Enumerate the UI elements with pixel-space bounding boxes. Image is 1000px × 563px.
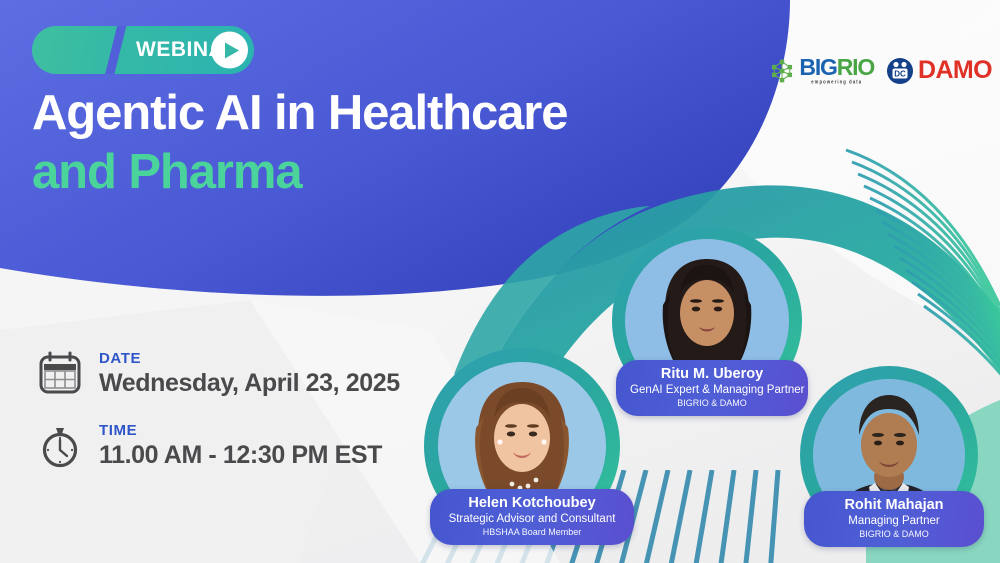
calendar-icon	[36, 350, 84, 398]
bigrio-wordmark: BIGRIO	[799, 57, 874, 78]
stopwatch-icon	[36, 422, 84, 470]
speaker-role: Managing Partner	[818, 514, 970, 528]
damo-wordmark: DAMO	[918, 56, 992, 85]
time-row: TIME 11.00 AM - 12:30 PM EST	[36, 422, 400, 470]
speaker-org: HBSHAA Board Member	[444, 527, 620, 539]
bigrio-word-part2: RIO	[837, 54, 874, 80]
webinar-poster: WEBINAR Agentic AI in Healthcare and Pha…	[0, 0, 1000, 563]
speaker-card-ritu: Ritu M. Uberoy GenAI Expert & Managing P…	[612, 226, 812, 416]
speaker-org: BIGRIO & DAMO	[630, 398, 794, 410]
speaker-name: Ritu M. Uberoy	[630, 366, 794, 383]
title-line-2: and Pharma	[32, 147, 732, 199]
title-line-1: Agentic AI in Healthcare	[32, 88, 732, 140]
speaker-name-plate: Ritu M. Uberoy GenAI Expert & Managing P…	[616, 360, 808, 416]
page-title: Agentic AI in Healthcare and Pharma	[32, 88, 732, 199]
time-value: 11.00 AM - 12:30 PM EST	[99, 442, 382, 470]
molecule-network-icon	[769, 58, 795, 84]
dc-monogram-icon: DC	[887, 58, 913, 84]
time-label: TIME	[99, 423, 382, 440]
date-row: DATE Wednesday, April 23, 2025	[36, 350, 400, 398]
speaker-card-helen: Helen Kotchoubey Strategic Advisor and C…	[424, 348, 634, 548]
speaker-name: Helen Kotchoubey	[444, 495, 620, 512]
speaker-name-plate: Helen Kotchoubey Strategic Advisor and C…	[430, 489, 634, 545]
speaker-org: BIGRIO & DAMO	[818, 529, 970, 541]
svg-text:DC: DC	[894, 69, 906, 78]
badge-slash	[104, 26, 128, 74]
speaker-name-plate: Rohit Mahajan Managing Partner BIGRIO & …	[804, 491, 984, 547]
bigrio-logo: BIGRIO empowering data	[769, 57, 874, 84]
bigrio-word-part1: BIG	[799, 54, 836, 80]
play-icon[interactable]	[211, 32, 248, 69]
speaker-card-rohit: Rohit Mahajan Managing Partner BIGRIO & …	[800, 366, 988, 546]
speaker-role: GenAI Expert & Managing Partner	[630, 383, 794, 397]
date-label: DATE	[99, 351, 400, 368]
speaker-name: Rohit Mahajan	[818, 497, 970, 514]
webinar-badge: WEBINAR	[32, 26, 254, 74]
speaker-role: Strategic Advisor and Consultant	[444, 512, 620, 526]
date-value: Wednesday, April 23, 2025	[99, 370, 400, 398]
event-details: DATE Wednesday, April 23, 2025	[36, 350, 400, 494]
logo-group: BIGRIO empowering data DC DAMO	[769, 56, 992, 85]
damo-logo: DC DAMO	[887, 56, 992, 85]
bigrio-tagline: empowering data	[811, 79, 862, 85]
